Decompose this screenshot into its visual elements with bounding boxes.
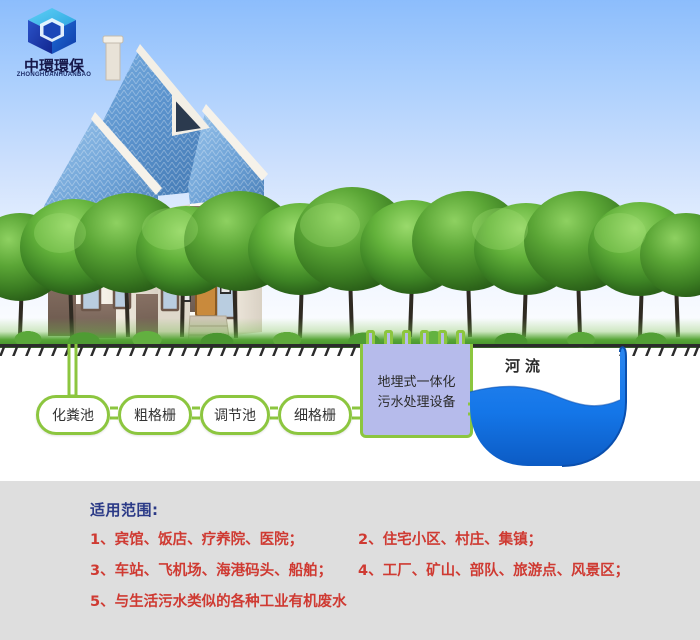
scope-item: 2、住宅小区、村庄、集镇； (358, 528, 542, 549)
equipment-label-line1: 地埋式一体化 (377, 373, 455, 393)
brand-name-en: ZHONGHUANHUANBAO (8, 72, 100, 78)
flow-node-coarse-grate[interactable]: 粗格栅 (118, 395, 192, 435)
scope-item: 4、工厂、矿山、部队、旅游点、风景区； (358, 559, 629, 580)
flow-node-label: 化粪池 (52, 405, 94, 425)
buried-integrated-sewage-equipment[interactable]: 地埋式一体化 污水处理设备 (360, 344, 473, 438)
flow-node-regulation-tank[interactable]: 调节池 (200, 395, 270, 435)
flow-node-label: 调节池 (214, 405, 256, 425)
flow-node-fine-grate[interactable]: 细格栅 (278, 395, 352, 435)
diagram-canvas: 化粪池 粗格栅 调节池 细格栅 地埋式一体化 污水处理设备 (0, 0, 700, 640)
scope-row: 5、与生活污水类似的各种工业有机废水 (90, 590, 690, 620)
scope-item: 3、车站、飞机场、海港码头、船舶； (90, 559, 332, 580)
flow-node-septic-tank[interactable]: 化粪池 (36, 395, 110, 435)
hexagon-cube-logo-icon (22, 6, 82, 56)
flow-node-label: 粗格栅 (134, 405, 176, 425)
scope-panel: 适用范围: 1、宾馆、饭店、疗养院、医院； 2、住宅小区、村庄、集镇； 3、车站… (0, 481, 700, 640)
river-label: 河流 (505, 355, 545, 376)
flow-node-label: 细格栅 (294, 405, 336, 425)
scope-row: 3、车站、飞机场、海港码头、船舶； 4、工厂、矿山、部队、旅游点、风景区； (90, 559, 690, 589)
brand-logo[interactable]: 中環環保 ZHONGHUANHUANBAO (8, 6, 100, 84)
scope-item: 1、宾馆、饭店、疗养院、医院； (90, 528, 303, 549)
scope-item: 5、与生活污水类似的各种工业有机废水 (90, 590, 347, 611)
equipment-label-line2: 污水处理设备 (377, 393, 455, 413)
scope-panel-title: 适用范围: (90, 499, 159, 520)
scope-row: 1、宾馆、饭店、疗养院、医院； 2、住宅小区、村庄、集镇； (90, 528, 690, 558)
